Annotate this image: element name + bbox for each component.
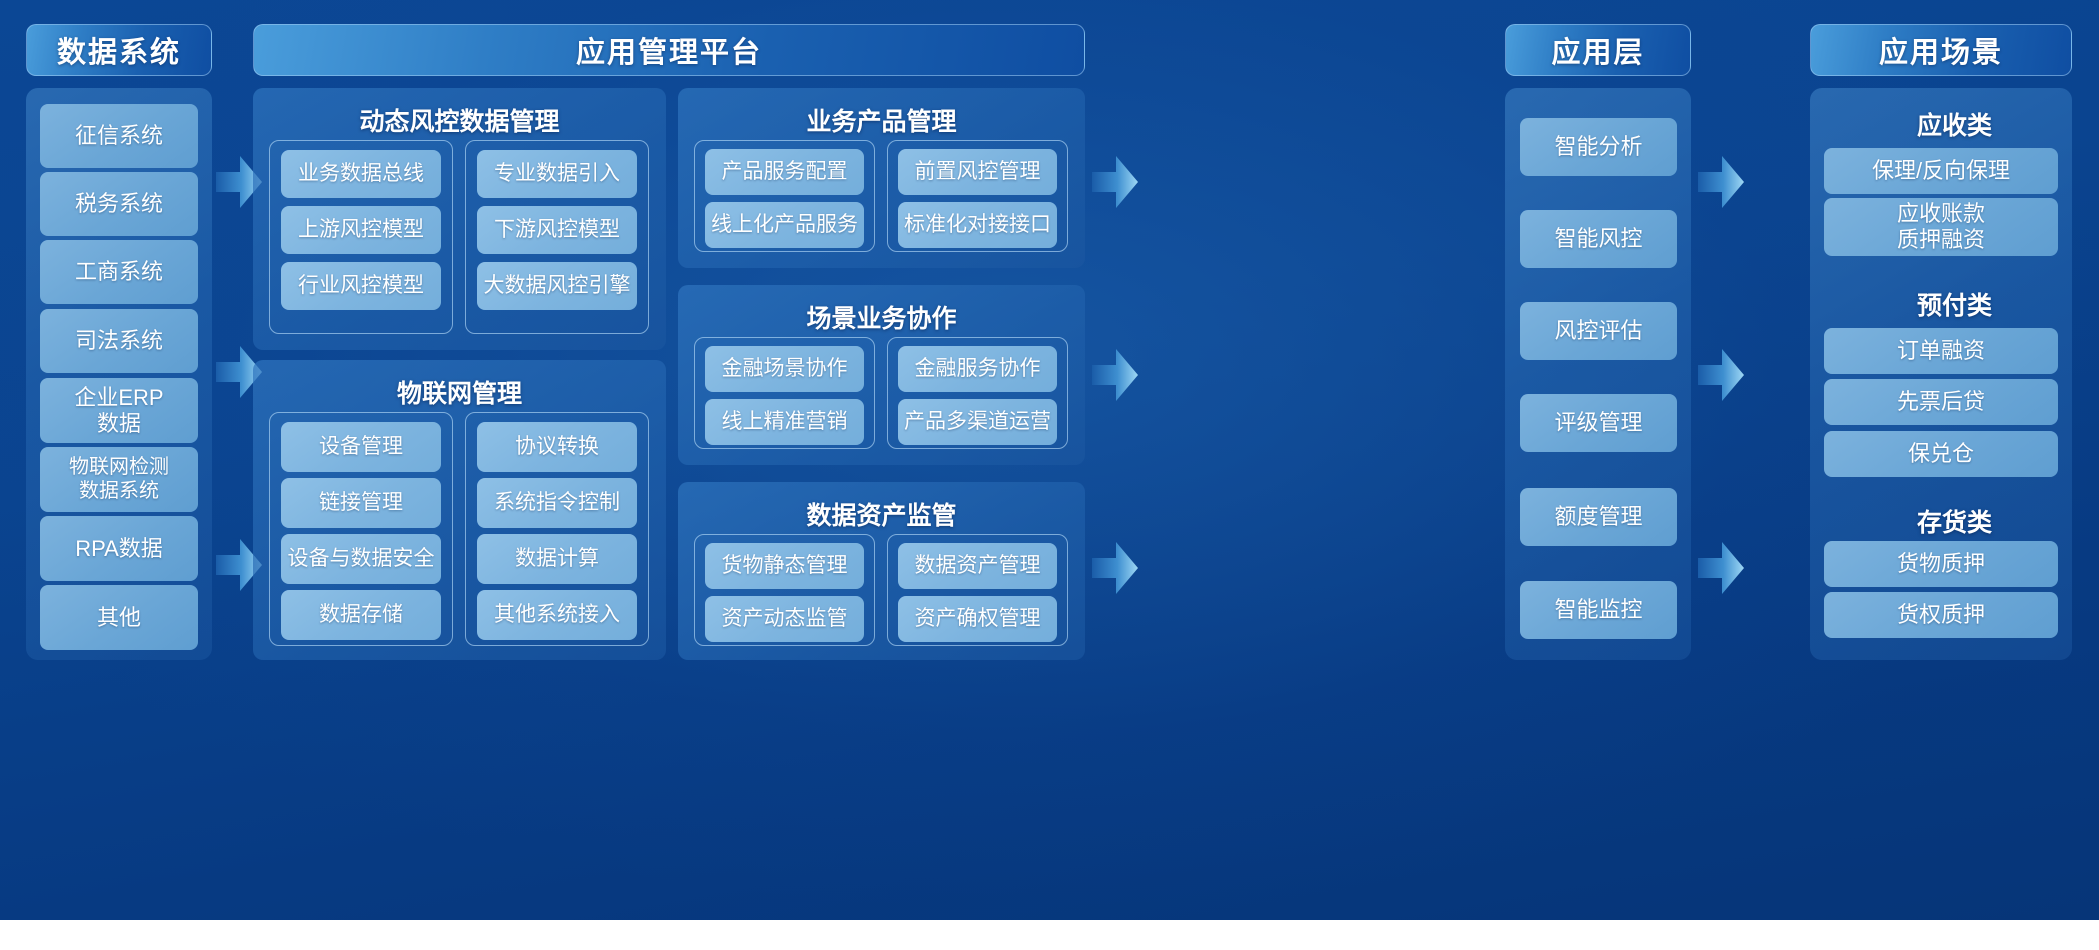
scenario-item[interactable]: 保理/反向保理: [1824, 148, 2058, 194]
platform-item[interactable]: 金融服务协作: [898, 346, 1057, 392]
diagram-canvas: 数据系统 征信系统 税务系统 工商系统 司法系统 企业ERP 数据 物联网检测 …: [0, 0, 2099, 920]
application-layer-item-4[interactable]: 额度管理: [1520, 488, 1677, 546]
platform-card-business-product: 业务产品管理 产品服务配置 线上化产品服务 前置风控管理 标准化对接接口: [678, 88, 1085, 268]
right-arrow-icon: [1092, 152, 1138, 212]
right-arrow-icon: [1698, 538, 1744, 598]
right-arrow-icon: [1092, 538, 1138, 598]
column-header-platform-label: 应用管理平台: [576, 29, 762, 71]
platform-item[interactable]: 数据资产管理: [898, 543, 1057, 589]
column-header-application-scenarios-label: 应用场景: [1879, 29, 2003, 71]
scenario-item[interactable]: 订单融资: [1824, 328, 2058, 374]
column-header-data-system: 数据系统: [26, 24, 212, 76]
application-layer-item-5[interactable]: 智能监控: [1520, 581, 1677, 639]
platform-item[interactable]: 协议转换: [477, 422, 637, 472]
data-system-item-3[interactable]: 司法系统: [40, 309, 198, 373]
platform-card-title: 场景业务协作: [678, 299, 1085, 335]
column-header-application-layer: 应用层: [1505, 24, 1691, 76]
application-layer-item-1[interactable]: 智能风控: [1520, 210, 1677, 268]
platform-item[interactable]: 资产确权管理: [898, 596, 1057, 642]
data-system-item-0[interactable]: 征信系统: [40, 104, 198, 168]
platform-card-title: 数据资产监管: [678, 496, 1085, 532]
data-system-item-2[interactable]: 工商系统: [40, 240, 198, 304]
platform-item[interactable]: 数据计算: [477, 534, 637, 584]
platform-item[interactable]: 线上化产品服务: [705, 202, 864, 248]
platform-item[interactable]: 线上精准营销: [705, 399, 864, 445]
platform-item[interactable]: 上游风控模型: [281, 206, 441, 254]
scenario-item[interactable]: 货物质押: [1824, 541, 2058, 587]
column-header-platform: 应用管理平台: [253, 24, 1085, 76]
right-arrow-icon: [1698, 152, 1744, 212]
platform-item[interactable]: 大数据风控引擎: [477, 262, 637, 310]
platform-card-title: 业务产品管理: [678, 102, 1085, 138]
platform-card-data-asset: 数据资产监管 货物静态管理 资产动态监管 数据资产管理 资产确权管理: [678, 482, 1085, 660]
scenario-group-label-receivables: 应收类: [1810, 106, 2099, 142]
scenario-group-label-inventory: 存货类: [1810, 503, 2099, 539]
right-arrow-icon: [1092, 345, 1138, 405]
architecture-diagram: 数据系统 征信系统 税务系统 工商系统 司法系统 企业ERP 数据 物联网检测 …: [0, 0, 2099, 950]
right-arrow-icon: [1698, 345, 1744, 405]
platform-item[interactable]: 货物静态管理: [705, 543, 864, 589]
platform-item[interactable]: 系统指令控制: [477, 478, 637, 528]
platform-item[interactable]: 业务数据总线: [281, 150, 441, 198]
data-system-item-1[interactable]: 税务系统: [40, 172, 198, 236]
scenario-item[interactable]: 先票后贷: [1824, 379, 2058, 425]
column-header-application-scenarios: 应用场景: [1810, 24, 2072, 76]
platform-item[interactable]: 专业数据引入: [477, 150, 637, 198]
platform-card-title: 物联网管理: [253, 374, 666, 410]
data-system-item-6[interactable]: RPA数据: [40, 516, 198, 581]
platform-item[interactable]: 资产动态监管: [705, 596, 864, 642]
scenario-item[interactable]: 保兑仓: [1824, 431, 2058, 477]
scenario-group-label-prepaid: 预付类: [1810, 286, 2099, 322]
platform-item[interactable]: 设备管理: [281, 422, 441, 472]
platform-item[interactable]: 金融场景协作: [705, 346, 864, 392]
scenario-item[interactable]: 货权质押: [1824, 592, 2058, 638]
platform-item[interactable]: 产品服务配置: [705, 149, 864, 195]
scenario-item[interactable]: 应收账款 质押融资: [1824, 198, 2058, 256]
application-layer-item-3[interactable]: 评级管理: [1520, 394, 1677, 452]
platform-item[interactable]: 下游风控模型: [477, 206, 637, 254]
platform-item[interactable]: 设备与数据安全: [281, 534, 441, 584]
platform-item[interactable]: 行业风控模型: [281, 262, 441, 310]
data-system-item-5[interactable]: 物联网检测 数据系统: [40, 447, 198, 512]
platform-item[interactable]: 产品多渠道运营: [898, 399, 1057, 445]
platform-card-dynamic-risk: 动态风控数据管理 业务数据总线 上游风控模型 行业风控模型 专业数据引入 下游风…: [253, 88, 666, 350]
platform-item[interactable]: 数据存储: [281, 590, 441, 640]
application-layer-item-2[interactable]: 风控评估: [1520, 302, 1677, 360]
column-header-data-system-label: 数据系统: [57, 29, 181, 71]
platform-card-iot: 物联网管理 设备管理 链接管理 设备与数据安全 数据存储 协议转换 系统指令控制…: [253, 360, 666, 660]
column-header-application-layer-label: 应用层: [1551, 29, 1644, 71]
platform-card-scenario-collab: 场景业务协作 金融场景协作 线上精准营销 金融服务协作 产品多渠道运营: [678, 285, 1085, 465]
data-system-item-4[interactable]: 企业ERP 数据: [40, 378, 198, 443]
platform-card-title: 动态风控数据管理: [253, 102, 666, 138]
platform-item[interactable]: 前置风控管理: [898, 149, 1057, 195]
platform-item[interactable]: 标准化对接接口: [898, 202, 1057, 248]
data-system-item-7[interactable]: 其他: [40, 585, 198, 650]
platform-item[interactable]: 其他系统接入: [477, 590, 637, 640]
application-layer-item-0[interactable]: 智能分析: [1520, 118, 1677, 176]
platform-item[interactable]: 链接管理: [281, 478, 441, 528]
